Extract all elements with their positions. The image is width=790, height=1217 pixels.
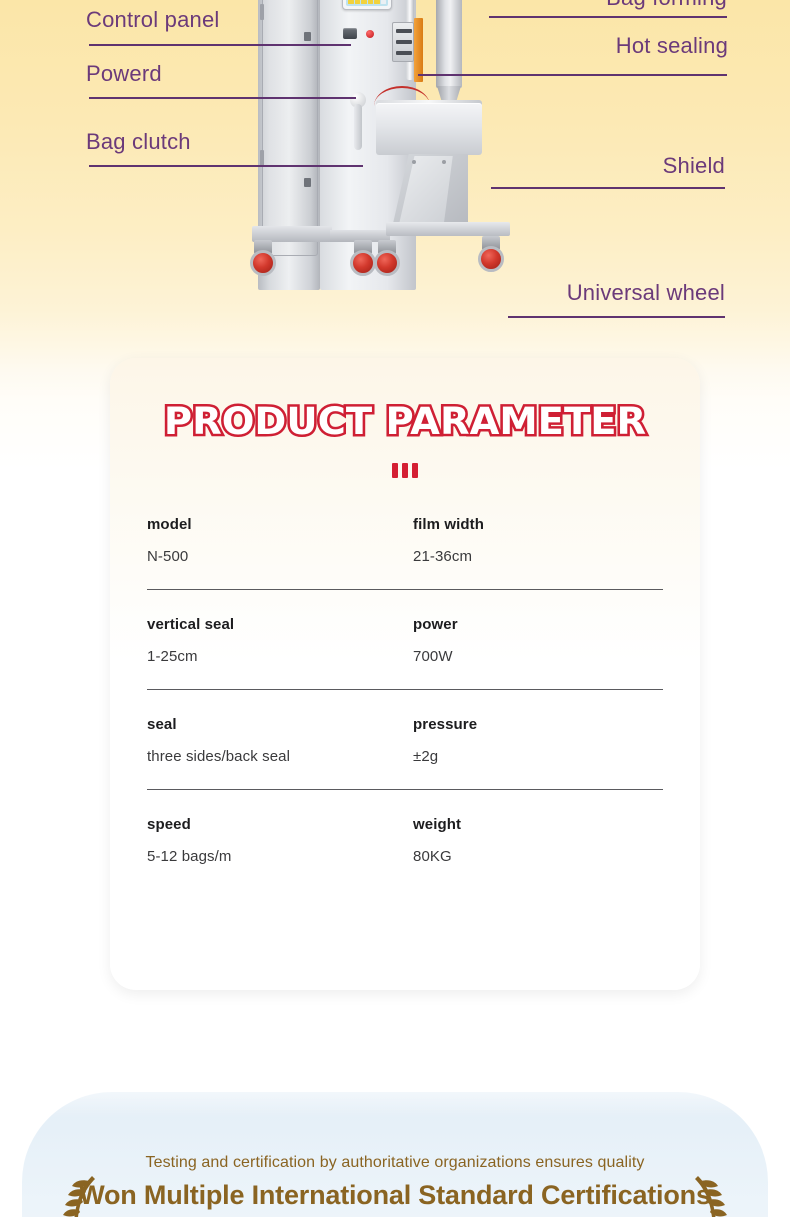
table-cell: film width 21-36cm [405, 516, 663, 565]
param-key: model [147, 516, 405, 533]
row-divider [147, 789, 663, 790]
machine-hinge [260, 4, 264, 20]
accent-bar [402, 463, 408, 478]
control-keypad [348, 0, 386, 4]
machine-base-right [386, 222, 510, 236]
table-row: speed 5-12 bags/m weight 80KG [147, 816, 663, 865]
callout-leader-bag-clutch [89, 165, 363, 167]
param-value: three sides/back seal [147, 748, 405, 765]
machine-caster-wheel [350, 240, 376, 282]
callout-leader-universal-wheel [508, 316, 725, 318]
product-detail-page: Bag forming Control panel Hot sealing Po… [0, 0, 790, 1217]
machine-diagram-section: Bag forming Control panel Hot sealing Po… [0, 0, 790, 1030]
machine-bolt [412, 160, 416, 164]
table-row: model N-500 film width 21-36cm [147, 516, 663, 590]
param-key: pressure [413, 716, 663, 733]
callout-label-bag-clutch: Bag clutch [86, 130, 191, 154]
table-cell: power 700W [405, 616, 663, 665]
table-row: seal three sides/back seal pressure ±2g [147, 716, 663, 790]
callout-label-hot-sealing: Hot sealing [616, 34, 728, 58]
machine-caster-wheel [478, 236, 504, 278]
table-row: vertical seal 1-25cm power 700W [147, 616, 663, 690]
param-value: 700W [413, 648, 663, 665]
certification-headline: Won Multiple International Standard Cert… [79, 1180, 711, 1211]
machine-latch [304, 178, 311, 187]
callout-label-powerd: Powerd [86, 62, 162, 86]
machine-caster-wheel [374, 240, 400, 282]
machine-power-indicator [366, 30, 374, 38]
certification-section: Testing and certification by authoritati… [0, 1030, 790, 1217]
title-accent-bars [392, 463, 418, 478]
row-divider [147, 589, 663, 590]
callout-leader-control-panel [89, 44, 351, 46]
machine-caster-wheel [250, 240, 276, 282]
machine-hinge [260, 150, 264, 166]
certification-panel: Testing and certification by authoritati… [22, 1092, 768, 1217]
param-value: 1-25cm [147, 648, 405, 665]
callout-label-bag-forming: Bag forming [606, 0, 727, 10]
table-cell: vertical seal 1-25cm [147, 616, 405, 665]
callout-leader-shield [491, 187, 725, 189]
callout-leader-bag-forming [489, 16, 727, 18]
callout-label-control-panel: Control panel [86, 8, 219, 32]
machine-clutch-arm [354, 104, 362, 150]
callout-leader-hot-sealing [418, 74, 727, 76]
machine-shield-box [376, 103, 482, 155]
certification-subtitle: Testing and certification by authoritati… [79, 1154, 711, 1172]
table-cell: weight 80KG [405, 816, 663, 865]
parameter-card-title: PRODUCT PARAMETER [98, 400, 712, 443]
param-key: vertical seal [147, 616, 405, 633]
param-key: seal [147, 716, 405, 733]
param-value: ±2g [413, 748, 663, 765]
row-divider [147, 689, 663, 690]
machine-latch [304, 32, 311, 41]
table-cell: speed 5-12 bags/m [147, 816, 405, 865]
param-key: power [413, 616, 663, 633]
product-parameter-card: PRODUCT PARAMETER model N-500 film width [110, 358, 700, 990]
table-cell: seal three sides/back seal [147, 716, 405, 765]
callout-label-universal-wheel: Universal wheel [567, 281, 725, 305]
machine-sealing-bracket [392, 22, 414, 62]
accent-bar [412, 463, 418, 478]
accent-bar [392, 463, 398, 478]
param-value: 21-36cm [413, 548, 663, 565]
param-value: 80KG [413, 848, 663, 865]
table-cell: model N-500 [147, 516, 405, 565]
param-key: weight [413, 816, 663, 833]
param-value: N-500 [147, 548, 405, 565]
callout-label-shield: Shield [663, 154, 725, 178]
machine-heater-strip [414, 18, 423, 82]
machine-power-switch [343, 28, 357, 39]
param-value: 5-12 bags/m [147, 848, 405, 865]
param-key: speed [147, 816, 405, 833]
table-cell: pressure ±2g [405, 716, 663, 765]
machine-bolt [442, 160, 446, 164]
param-key: film width [413, 516, 663, 533]
packing-machine-illustration [246, 0, 546, 340]
callout-leader-powerd [89, 97, 356, 99]
machine-control-panel [342, 0, 392, 10]
parameter-table: model N-500 film width 21-36cm vertical [147, 516, 663, 865]
